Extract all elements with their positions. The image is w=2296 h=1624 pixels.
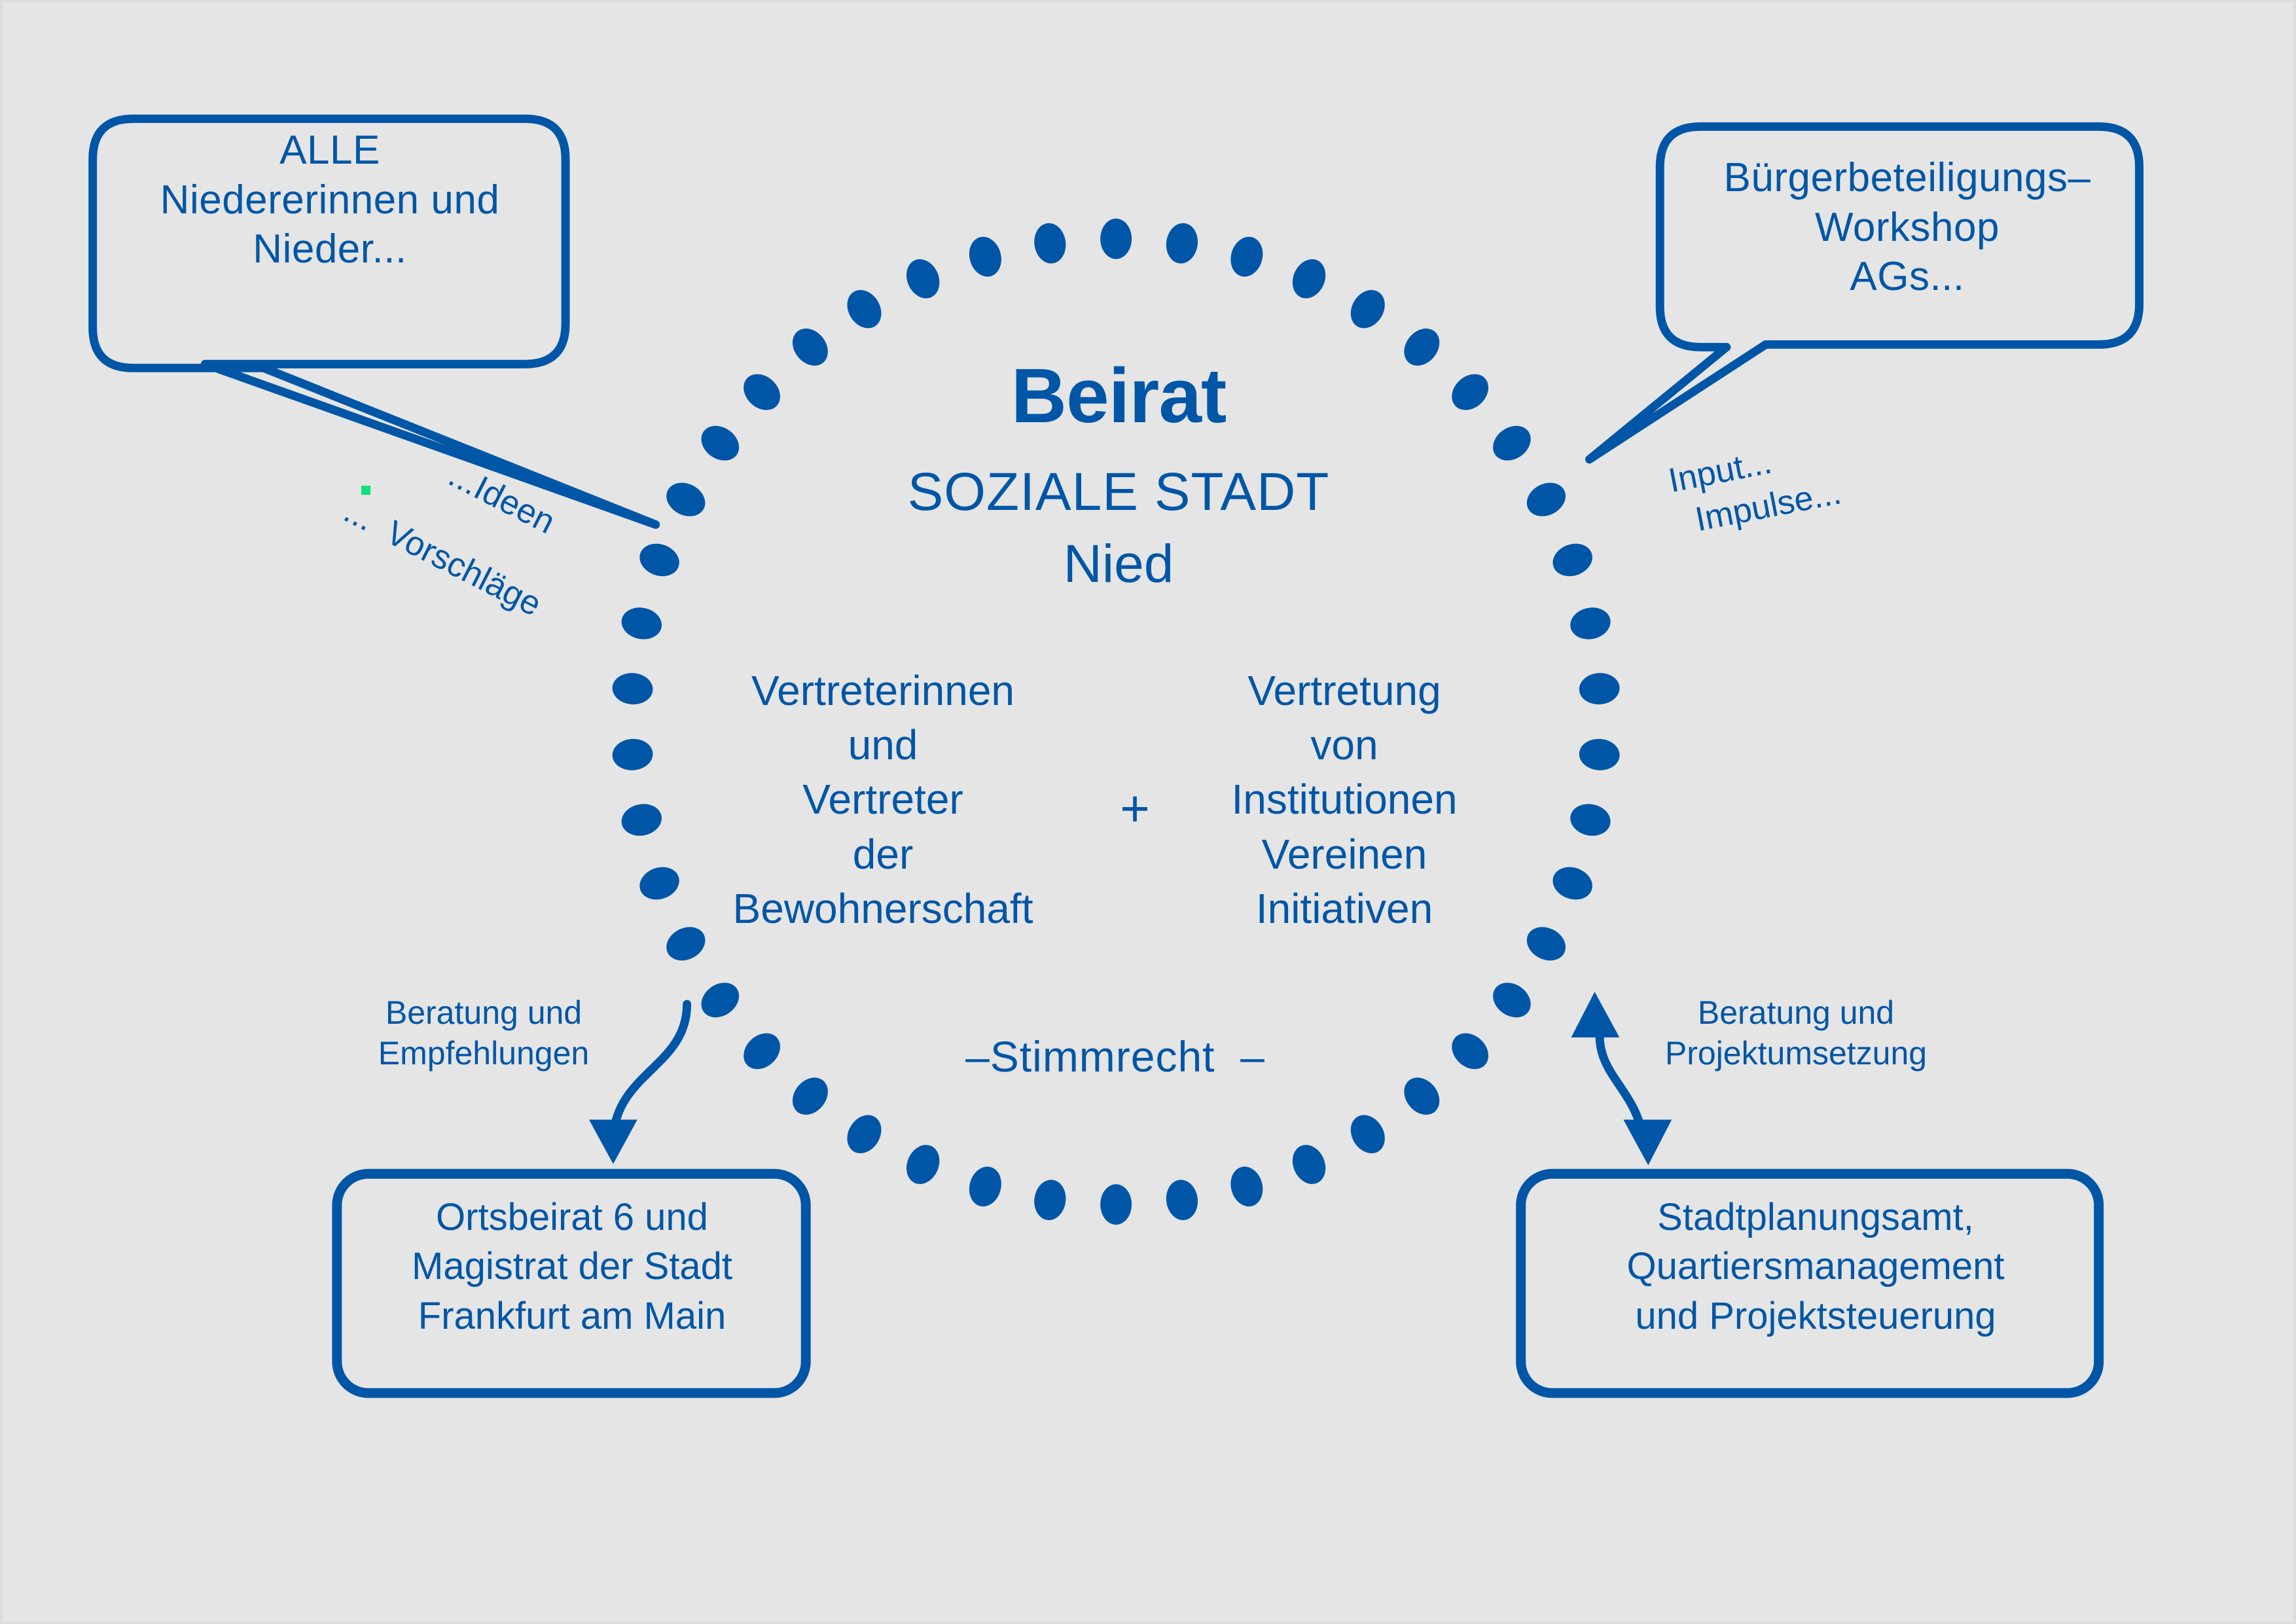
ring-dot [611, 672, 654, 706]
ring-dot [1397, 1071, 1446, 1122]
ring-dot [660, 920, 711, 967]
ring-dot [694, 975, 745, 1024]
ring-dot [1578, 672, 1621, 706]
diagram-canvas: ALLE Niedererinnen und Nieder... Bürgerb… [0, 0, 2296, 1624]
ring-dot [965, 1163, 1006, 1210]
ring-dot [1521, 477, 1571, 523]
ring-dot [1287, 254, 1332, 304]
ring-dot [1226, 1163, 1267, 1210]
center-column-left: Vertreterinnen und Vertreter der Bewohne… [713, 664, 1053, 936]
center-subtitle-line-2: Nied [814, 533, 1423, 596]
ring-dot [1549, 539, 1597, 582]
ring-dot [1578, 738, 1621, 772]
ring-dot [1521, 920, 1571, 967]
ring-dot [1164, 1178, 1200, 1222]
ring-dot [1344, 1109, 1391, 1160]
ring-dot [901, 254, 946, 304]
ring-dot [840, 1109, 888, 1160]
ring-dot [736, 1026, 787, 1076]
ring-dot [635, 862, 683, 905]
ring-dot [1226, 233, 1267, 280]
ring-dot [1568, 604, 1613, 643]
ring-dot [736, 367, 787, 417]
ring-dot [785, 1071, 835, 1122]
label-beratung-projektumsetzung: Beratung und Projektumsetzung [1632, 992, 1960, 1074]
ring-dot [1568, 801, 1613, 839]
ring-dot [1100, 1184, 1132, 1225]
bubble-top-right-label: Bürgerbeteiligungs– Workshop AGs... [1678, 153, 2136, 302]
ring-dot [901, 1140, 946, 1189]
ring-dot [660, 477, 711, 523]
center-subtitle-line-1: SOZIALE STADT [814, 461, 1423, 524]
ring-dot [1164, 221, 1200, 266]
ring-dot [1486, 419, 1537, 468]
ring-dot [965, 233, 1006, 280]
ring-dot [1444, 1026, 1496, 1076]
ring-dot [1486, 975, 1537, 1024]
green-marker-dot [361, 486, 370, 495]
ring-dot [1031, 1178, 1068, 1222]
plus-operator: + [1076, 778, 1194, 839]
label-beratung-empfehlungen: Beratung und Empfehlungen [343, 992, 624, 1074]
ring-dot [635, 539, 683, 582]
ring-dot [840, 283, 888, 334]
ring-dot [1287, 1140, 1332, 1189]
ring-dot [1100, 219, 1132, 259]
ring-dot [1549, 862, 1597, 905]
ring-dot [611, 738, 654, 772]
ring-dot [1444, 367, 1496, 417]
box-bottom-right-label: Stadtplanungsamt, Quartiersmanagement un… [1528, 1193, 2104, 1341]
ring-dot [1031, 221, 1068, 266]
ring-dot [619, 604, 664, 643]
ring-dot [694, 419, 745, 468]
bubble-top-left-label: ALLE Niedererinnen und Nieder... [94, 126, 565, 274]
center-column-right: Vertretung von Institutionen Vereinen In… [1207, 664, 1482, 936]
center-title: Beirat [814, 351, 1423, 442]
box-bottom-left-label: Ortsbeirat 6 und Magistrat der Stadt Fra… [343, 1193, 801, 1341]
stimmrecht-note: –Stimmrecht – [899, 1032, 1331, 1083]
ring-dot [1344, 283, 1391, 334]
ring-dot [619, 801, 664, 839]
